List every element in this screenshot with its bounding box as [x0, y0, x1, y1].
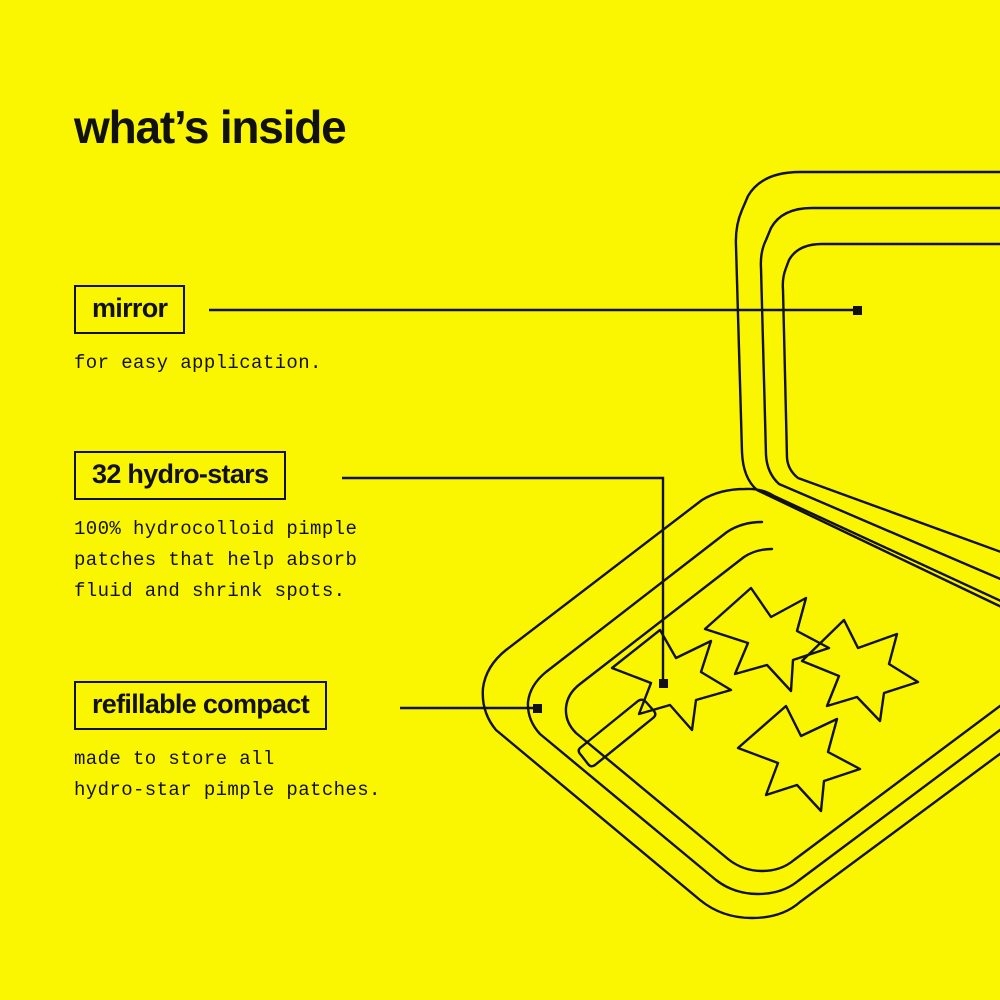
- callout-tag-mirror: mirror: [74, 285, 185, 334]
- callout-hydro-stars: 32 hydro-stars 100% hydrocolloid pimple …: [74, 451, 357, 607]
- callout-description-refillable-compact: made to store all hydro-star pimple patc…: [74, 744, 381, 806]
- callout-refillable-compact: refillable compact made to store all hyd…: [74, 681, 381, 806]
- callout-description-mirror: for easy application.: [74, 348, 322, 379]
- compact-lid: [736, 172, 1000, 612]
- callout-tag-refillable-compact: refillable compact: [74, 681, 327, 730]
- callout-tag-hydro-stars: 32 hydro-stars: [74, 451, 286, 500]
- callout-description-hydro-stars: 100% hydrocolloid pimple patches that he…: [74, 514, 357, 607]
- callout-mirror: mirror for easy application.: [74, 285, 322, 379]
- compact-base: [483, 489, 1000, 918]
- page-title: what’s inside: [74, 104, 346, 150]
- poster-canvas: what’s inside mirror for easy applicatio…: [0, 0, 1000, 1000]
- compact-latch: [579, 700, 656, 767]
- hydro-star-patch: [612, 588, 918, 811]
